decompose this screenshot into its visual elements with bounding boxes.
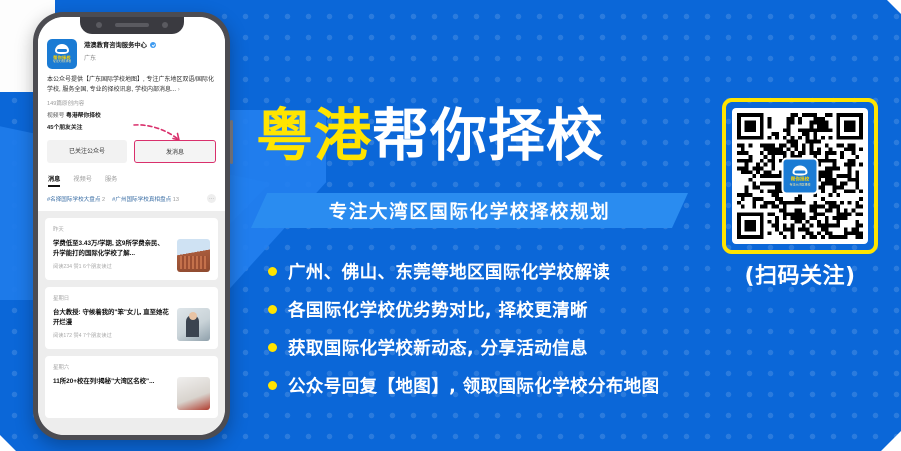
list-item: 各国际化学校优劣势对比, 择校更清晰: [268, 290, 728, 328]
phone-side-button[interactable]: [230, 120, 233, 164]
feature-bullet-list: 广州、佛山、东莞等地区国际化学校解读 各国际化学校优劣势对比, 择校更清晰 获取…: [268, 252, 728, 404]
article-body: 台大教授: 守候着我的"笨"女儿, 直至她花开烂漫 阅读172 赞4 7个朋友读…: [53, 308, 210, 341]
phone-screen: 帮你择校 专注大湾区择校 港澳教育咨询服务中心 广东 本公众号提供【广: [38, 17, 225, 435]
article-thumbnail: [177, 239, 210, 272]
account-action-buttons: 已关注公众号 发消息: [47, 140, 216, 163]
article-stats: 阅读234 赞1 6个朋友读过: [53, 263, 170, 270]
corner-notch-top-right: [887, 0, 901, 14]
video-channel-value: 粤港帮你择校: [66, 113, 101, 119]
account-tabs: 消息 视频号 服务: [47, 174, 216, 187]
article-date: 昨天: [53, 225, 210, 233]
article-date: 星期六: [53, 363, 210, 371]
tab-video-channel[interactable]: 视频号: [73, 174, 92, 187]
article-title: 学费低至3.43万/学期, 这9所学费亲民、升学能打的国际化学校了解...: [53, 239, 170, 258]
verified-badge-icon: [150, 42, 156, 48]
bullet-dot-icon: [268, 381, 277, 390]
article-body: 11所20+校在列!揭秘"大湾区名校"...: [53, 377, 210, 410]
account-region: 广东: [84, 53, 216, 62]
list-item[interactable]: 星期六 11所20+校在列!揭秘"大湾区名校"...: [45, 356, 218, 418]
list-item: 获取国际化学校新动态, 分享活动信息: [268, 328, 728, 366]
qr-center-logo: 帮你择校 专注大湾区择校: [782, 158, 819, 195]
article-text: 11所20+校在列!揭秘"大湾区名校"...: [53, 377, 170, 410]
list-item[interactable]: 星期日 台大教授: 守候着我的"笨"女儿, 直至她花开烂漫 阅读172 赞4 7…: [45, 287, 218, 349]
topic-chip[interactable]: #名择国际学校大盘点 2: [47, 195, 105, 203]
article-stats: 阅读172 赞4 7个朋友读过: [53, 332, 170, 339]
topic-chip-text: #广州国际学校真相盘点: [112, 197, 171, 203]
account-text-block: 港澳教育咨询服务中心 广东: [84, 39, 216, 62]
account-description-more[interactable]: ›: [178, 87, 180, 93]
corner-notch-bottom-right: [881, 431, 901, 451]
topic-chip[interactable]: #广州国际学校真相盘点 13: [112, 195, 179, 203]
bullet-dot-icon: [268, 343, 277, 352]
headline-highlight: 粤港: [256, 103, 372, 169]
follow-button[interactable]: 已关注公众号: [47, 140, 127, 163]
bullet-dot-icon: [268, 267, 277, 276]
article-date: 星期日: [53, 294, 210, 302]
sensor-icon: [162, 22, 168, 28]
list-item: 广州、佛山、东莞等地区国际化学校解读: [268, 252, 728, 290]
account-original-count: 149篇原创内容: [47, 99, 216, 107]
account-identity: 帮你择校 专注大湾区择校 港澳教育咨询服务中心 广东: [47, 39, 216, 69]
article-title: 台大教授: 守候着我的"笨"女儿, 直至她花开烂漫: [53, 308, 170, 327]
avatar-logo-sub: 专注大湾区择校: [53, 60, 71, 64]
account-name: 港澳教育咨询服务中心: [84, 40, 147, 49]
corner-notch-bottom-left: [0, 435, 16, 451]
wechat-official-account-page: 帮你择校 专注大湾区择校 港澳教育咨询服务中心 广东 本公众号提供【广: [38, 17, 225, 435]
subtitle-banner: 专注大湾区国际化学校择校规划: [251, 193, 688, 228]
phone-mockup: 帮你择校 专注大湾区择校 港澳教育咨询服务中心 广东 本公众号提供【广: [33, 12, 230, 440]
topic-chip-row: #名择国际学校大盘点 2 #广州国际学校真相盘点 13 ···: [47, 194, 216, 203]
bullet-text: 广州、佛山、东莞等地区国际化学校解读: [288, 259, 610, 284]
tab-messages[interactable]: 消息: [48, 174, 60, 187]
article-body: 学费低至3.43万/学期, 这9所学费亲民、升学能打的国际化学校了解... 阅读…: [53, 239, 210, 272]
bullet-text: 各国际化学校优劣势对比, 择校更清晰: [288, 297, 588, 322]
qr-code-frame: 帮你择校 专注大湾区择校: [722, 98, 878, 254]
subtitle-text: 专注大湾区国际化学校择校规划: [329, 198, 610, 224]
speaker-icon: [115, 23, 149, 27]
article-feed: 昨天 学费低至3.43万/学期, 这9所学费亲民、升学能打的国际化学校了解...…: [38, 211, 225, 418]
qr-code[interactable]: 帮你择校 专注大湾区择校: [732, 108, 868, 244]
headline-rest: 帮你择校: [372, 103, 604, 169]
article-thumbnail: [177, 308, 210, 341]
send-message-button[interactable]: 发消息: [134, 140, 216, 163]
account-avatar: 帮你择校 专注大湾区择校: [47, 39, 77, 69]
phone-notch: [80, 17, 184, 34]
article-title: 11所20+校在列!揭秘"大湾区名校"...: [53, 377, 170, 387]
account-description: 本公众号提供【广东国际学校地图】, 专注广东地区双语/国际化学校, 服务全国, …: [47, 76, 216, 95]
topic-chip-count: 2: [102, 197, 105, 203]
bullet-text: 获取国际化学校新动态, 分享活动信息: [288, 335, 588, 360]
video-channel-label: 视频号: [47, 113, 64, 119]
graduation-cap-icon: [793, 166, 808, 176]
qr-caption: (扫码关注): [722, 258, 878, 290]
topic-chip-count: 13: [173, 197, 179, 203]
tab-services[interactable]: 服务: [105, 174, 117, 187]
list-item[interactable]: 昨天 学费低至3.43万/学期, 这9所学费亲民、升学能打的国际化学校了解...…: [45, 218, 218, 280]
account-header: 帮你择校 专注大湾区择校 港澳教育咨询服务中心 广东 本公众号提供【广: [38, 17, 225, 211]
account-friends-following[interactable]: 45个朋友关注: [47, 122, 216, 131]
article-text: 台大教授: 守候着我的"笨"女儿, 直至她花开烂漫 阅读172 赞4 7个朋友读…: [53, 308, 170, 341]
article-thumbnail: [177, 377, 210, 410]
account-video-channel-row[interactable]: 视频号 粤港帮你择校: [47, 110, 216, 119]
bullet-dot-icon: [268, 305, 277, 314]
wechat-promo-banner: 帮你择校 专注大湾区择校 港澳教育咨询服务中心 广东 本公众号提供【广: [0, 0, 901, 451]
account-description-text: 本公众号提供【广东国际学校地图】, 专注广东地区双语/国际化学校, 服务全国, …: [47, 77, 214, 93]
list-item: 公众号回复【地图】, 领取国际化学校分布地图: [268, 366, 728, 404]
bullet-text: 公众号回复【地图】, 领取国际化学校分布地图: [288, 373, 660, 398]
topic-chip-text: #名择国际学校大盘点: [47, 197, 100, 203]
more-topics-icon[interactable]: ···: [207, 194, 216, 203]
camera-icon: [96, 22, 102, 28]
graduation-cap-icon: [55, 44, 69, 54]
account-name-row: 港澳教育咨询服务中心: [84, 40, 216, 49]
article-text: 学费低至3.43万/学期, 这9所学费亲民、升学能打的国际化学校了解... 阅读…: [53, 239, 170, 272]
qr-logo-sub: 专注大湾区择校: [789, 182, 810, 186]
page-title: 粤港帮你择校: [256, 105, 604, 167]
